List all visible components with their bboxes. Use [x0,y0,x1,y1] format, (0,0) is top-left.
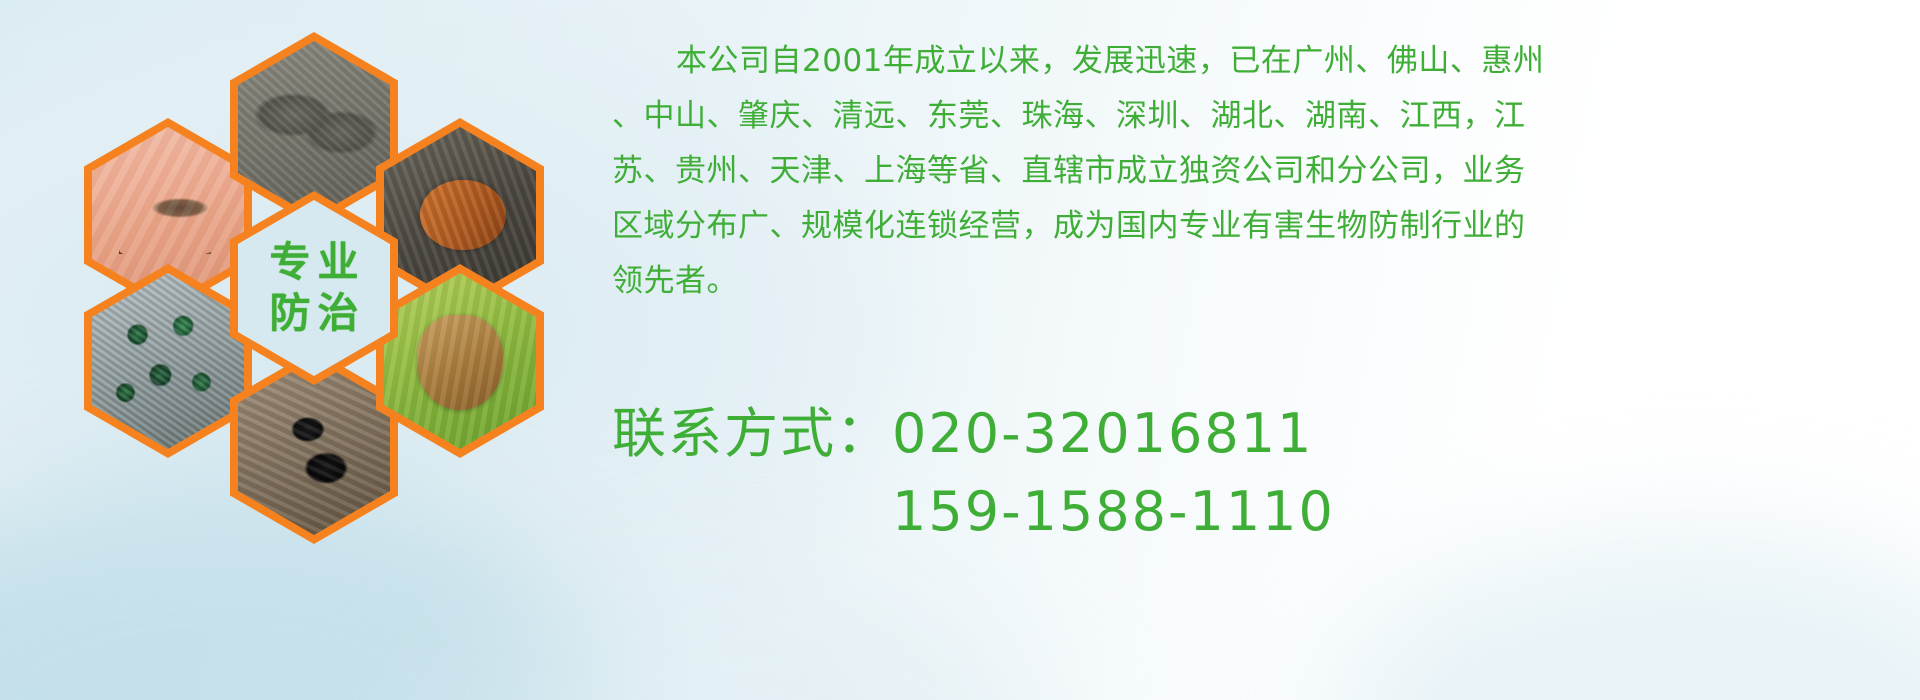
hex-inner-slogan: 专业 防治 [238,200,390,376]
intro-line-1: 本公司自2001年成立以来，发展迅速，已在广州、佛山、惠州 [612,34,1912,89]
slogan-line-1: 专业 [263,237,366,288]
slogan-text: 专业 防治 [263,237,366,340]
intro-line-3: 苏、贵州、天津、上海等省、直辖市成立独资公司和分公司，业务 [612,144,1912,199]
hex-cell-flies [84,264,252,458]
contact-line-primary[interactable]: 联系方式：020-32016811 [612,395,1912,473]
flies-photo [92,273,244,449]
intro-line-5: 领先者。 [612,254,1912,309]
rats-photo [238,41,390,217]
intro-line-4: 区域分布广、规模化连锁经营，成为国内专业有害生物防制行业的 [612,199,1912,254]
intro-line-2: 、中山、肇庆、清远、东莞、珠海、深圳、湖北、湖南、江西，江 [612,89,1912,144]
stink-bug-photo [384,273,536,449]
hex-cell-slogan: 专业 防治 [230,191,398,385]
ant-photo [238,359,390,535]
hex-inner-flies [92,273,244,449]
company-intro-paragraph: 本公司自2001年成立以来，发展迅速，已在广州、佛山、惠州 、中山、肇庆、清远、… [612,34,1912,309]
honeycomb-logo: 专业 防治 [84,14,604,574]
background-wash-center [430,570,1050,700]
banner-root: 专业 防治 本公司自2001年成立以来，发展迅速，已在广州、佛山、惠州 、中山、… [0,0,1920,700]
hex-inner-stink-bug [384,273,536,449]
hex-inner-rats [238,41,390,217]
contact-line-mobile[interactable]: 159-1588-1110 [612,473,1912,551]
hex-inner-ant [238,359,390,535]
contact-block: 联系方式：020-32016811 159-1588-1110 [612,395,1912,551]
hex-cell-stink-bug [376,264,544,458]
slogan-line-2: 防治 [263,288,366,339]
background-wash-right [1340,530,1920,700]
